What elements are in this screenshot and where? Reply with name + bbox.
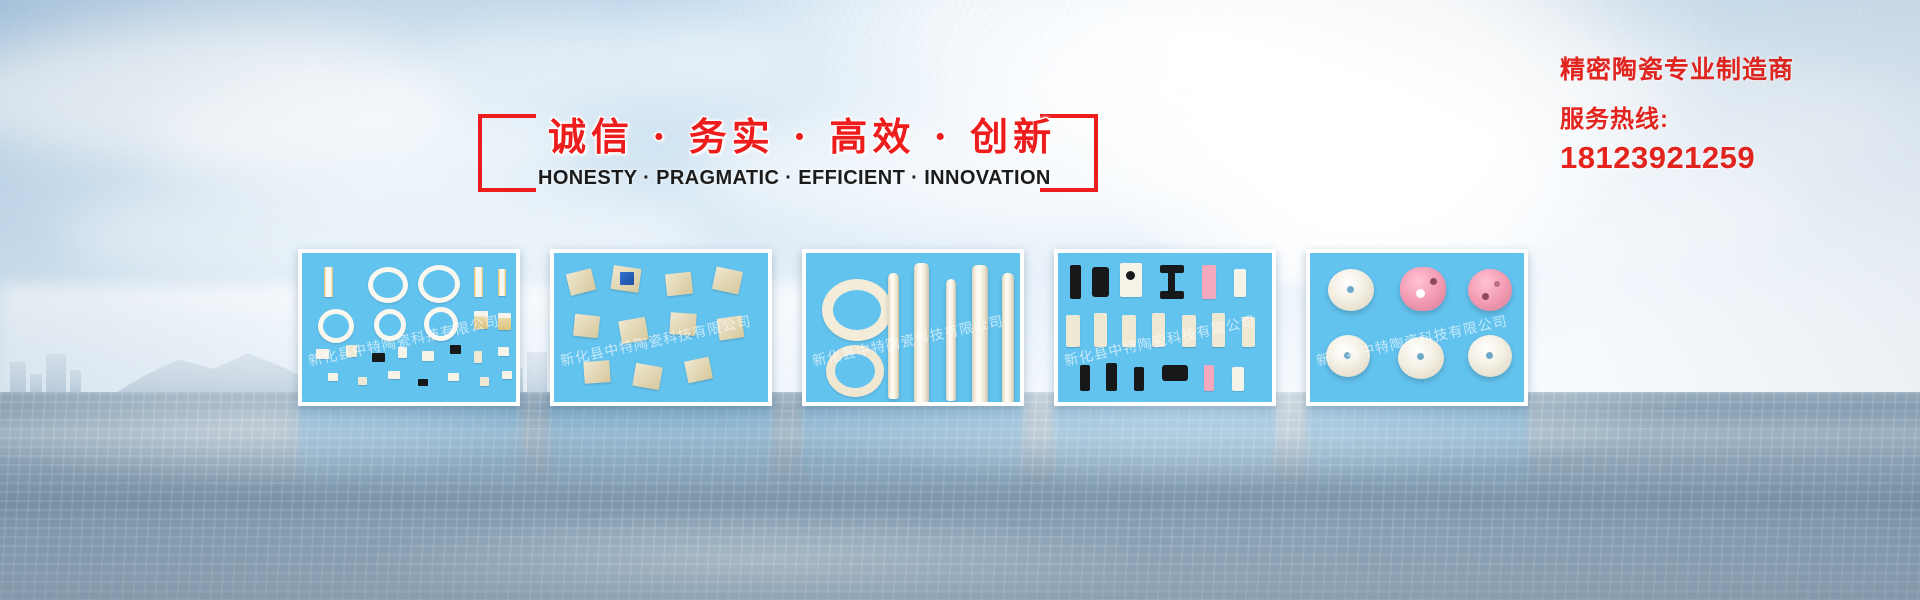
slogan-chinese: 诚信 · 务实 · 高效 · 创新 [548,106,1028,161]
panel-image-smd-substrates: 新化县中特陶瓷科技有限公司 [554,253,768,402]
product-panel[interactable]: 新化县中特陶瓷科技有限公司 [298,249,520,406]
panel-image-ceramic-discs: 新化县中特陶瓷科技有限公司 [1310,253,1524,402]
hero-banner: 诚信 · 务实 · 高效 · 创新 HONESTY · PRAGMATIC · … [0,0,1920,600]
ground-shadow-gradient [0,530,1920,600]
hotline-label: 服务热线: [1560,99,1900,134]
product-panel[interactable]: 新化县中特陶瓷科技有限公司 [1054,249,1276,406]
panel-reflection [298,406,520,498]
cloud-shape [430,20,790,105]
panel-reflection [802,406,1024,498]
panel-image-ceramic-tubes: 新化县中特陶瓷科技有限公司 [806,253,1020,402]
panel-image-structural-parts: 新化县中特陶瓷科技有限公司 [1058,253,1272,402]
panel-reflection [550,406,772,498]
panel-image-chip-components: 新化县中特陶瓷科技有限公司 [302,253,516,402]
product-panel[interactable]: 新化县中特陶瓷科技有限公司 [802,249,1024,406]
product-panel-row: 新化县中特陶瓷科技有限公司 新化县中特陶瓷科技有限公司 [298,249,1530,406]
bracket-left-vertical [478,114,482,192]
hotline-number[interactable]: 18123921259 [1560,140,1900,176]
panel-reflection [1054,406,1276,498]
bracket-right-vertical [1094,114,1098,192]
company-tagline: 精密陶瓷专业制造商 [1560,50,1900,86]
product-panel[interactable]: 新化县中特陶瓷科技有限公司 [550,249,772,406]
bracket-left-top [478,114,536,118]
slogan-block: 诚信 · 务实 · 高效 · 创新 HONESTY · PRAGMATIC · … [478,104,1098,200]
slogan-english: HONESTY · PRAGMATIC · EFFICIENT · INNOVA… [538,167,1038,190]
product-panel[interactable]: 新化县中特陶瓷科技有限公司 [1306,249,1528,406]
bracket-left-bottom [478,188,536,192]
panel-reflection [1306,406,1528,498]
contact-block: 精密陶瓷专业制造商 服务热线: 18123921259 [1560,50,1900,176]
